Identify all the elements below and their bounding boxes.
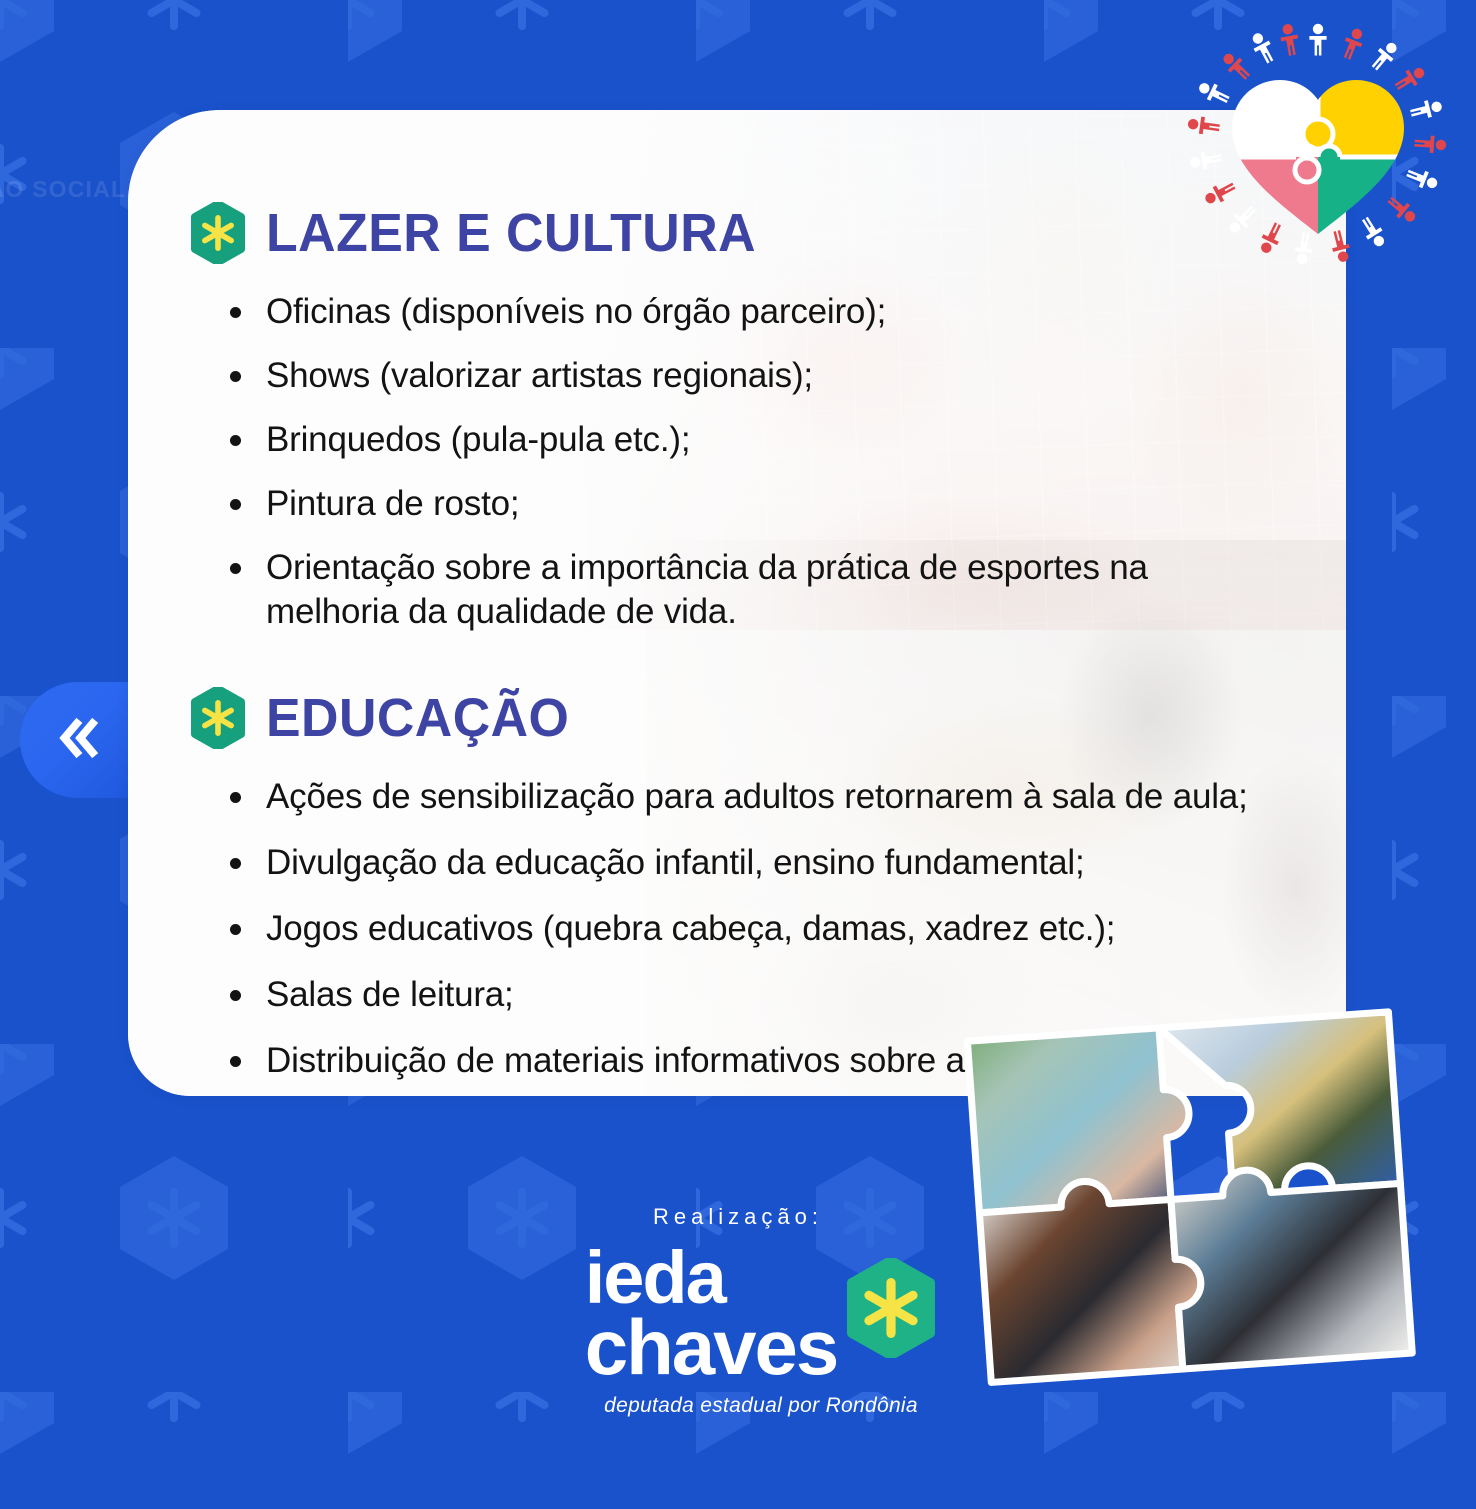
hexagon-asterisk-icon: [190, 202, 246, 264]
logo-wordmark: ieda chaves: [585, 1244, 838, 1384]
puzzle-piece-2: [1159, 1012, 1400, 1200]
social-action-heart-puzzle-logo: [1184, 22, 1452, 274]
list-item: Oficinas (disponíveis no órgão parceiro)…: [224, 290, 1264, 334]
list-item: Ações de sensibilização para adultos ret…: [224, 775, 1264, 819]
list-item: Jogos educativos (quebra cabeça, damas, …: [224, 907, 1264, 951]
list-item: Divulgação da educação infantil, ensino …: [224, 841, 1264, 885]
section-title: LAZER E CULTURA: [266, 206, 756, 260]
emblem-watermark-text: AÇÃO SOCIAL: [0, 176, 126, 203]
section-header: EDUCAÇÃO: [190, 687, 1288, 749]
list-item: Pintura de rosto;: [224, 482, 1264, 526]
list-item: Shows (valorizar artistas regionais);: [224, 354, 1264, 398]
double-chevron-left-icon: [51, 711, 105, 770]
previous-slide-tab[interactable]: [20, 682, 135, 798]
logo-line-ieda: ieda: [585, 1244, 838, 1312]
list-item: Orientação sobre a importância da prátic…: [224, 546, 1264, 634]
logo-line-chaves: chaves: [585, 1312, 838, 1384]
bullet-list: Oficinas (disponíveis no órgão parceiro)…: [224, 290, 1288, 635]
puzzle-photo-collage: [946, 978, 1476, 1503]
list-item: Brinquedos (pula-pula etc.);: [224, 418, 1264, 462]
puzzle-piece-4: [1169, 1159, 1412, 1369]
section-header: LAZER E CULTURA: [190, 202, 1288, 264]
section-lazer-e-cultura: LAZER E CULTURA Oficinas (disponíveis no…: [190, 202, 1288, 635]
hexagon-asterisk-icon: [190, 687, 246, 749]
hexagon-asterisk-icon: [845, 1258, 937, 1358]
section-title: EDUCAÇÃO: [266, 691, 569, 745]
content-card: LAZER E CULTURA Oficinas (disponíveis no…: [128, 110, 1346, 1096]
